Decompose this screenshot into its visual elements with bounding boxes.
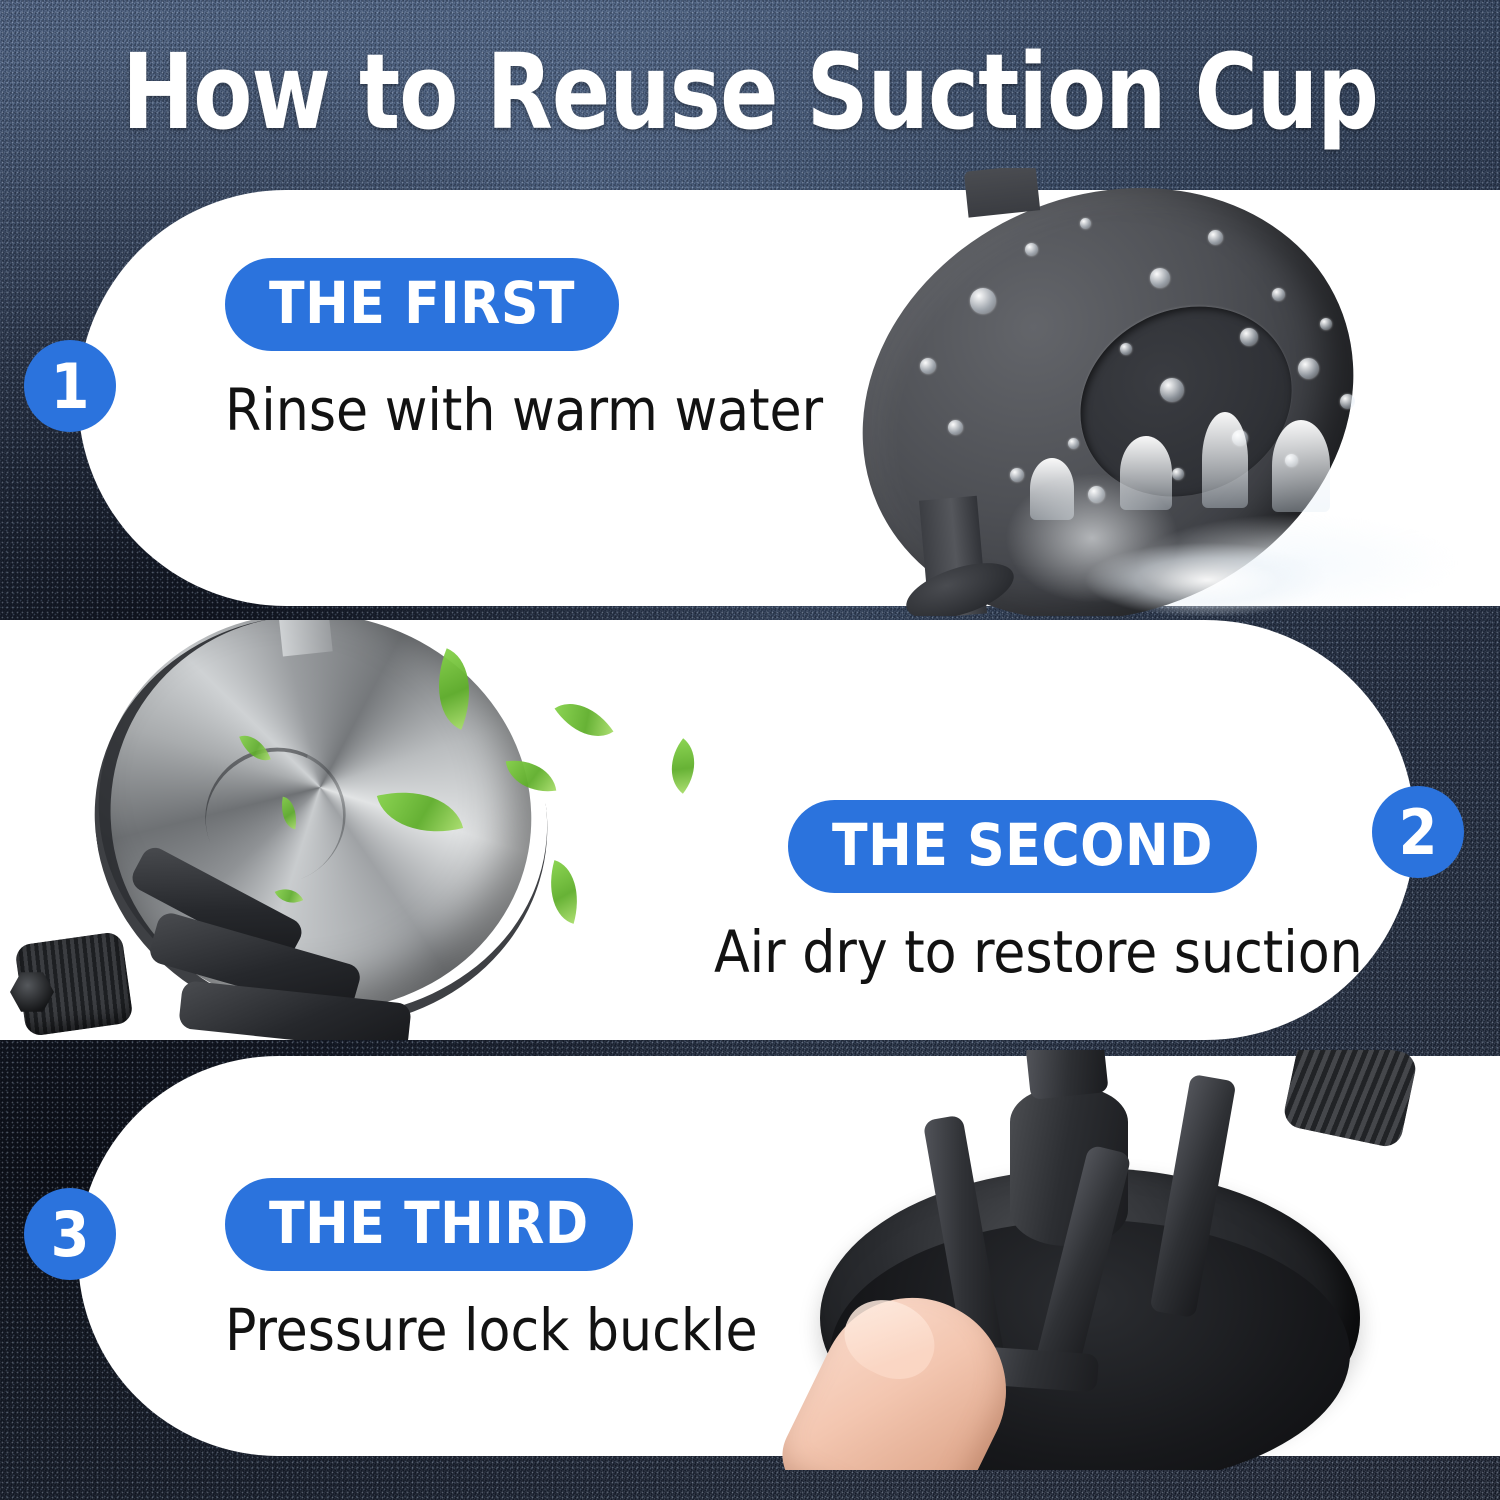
infographic-stage: How to Reuse Suction Cup <box>0 0 1500 1500</box>
step-1-content: THE FIRST Rinse with warm water <box>225 258 865 443</box>
step-2-caption: Air dry to restore suction <box>714 921 1400 985</box>
water-droplet <box>1240 328 1258 346</box>
step-panel-3: THE THIRD Pressure lock buckle <box>0 1050 1500 1470</box>
step-panel-2: THE SECOND Air dry to restore suction <box>0 620 1500 1040</box>
leaf <box>539 860 589 924</box>
step-2-content: THE SECOND Air dry to restore suction <box>700 800 1400 985</box>
water-droplet <box>1272 288 1285 301</box>
step-3-label: THE THIRD <box>225 1178 633 1271</box>
water-droplet <box>1298 358 1319 379</box>
page-title: How to Reuse Suction Cup <box>60 36 1440 148</box>
step-number-badge-1: 1 <box>24 340 116 432</box>
water-droplet <box>1320 318 1332 330</box>
suction-cup-stem <box>277 620 332 656</box>
step-3-photo <box>760 1050 1500 1470</box>
step-number-badge-2: 2 <box>1372 786 1464 878</box>
leaf <box>555 688 614 751</box>
water-droplet <box>1160 378 1184 402</box>
suction-disc-tab <box>964 168 1040 218</box>
water-droplet <box>1120 343 1132 355</box>
leaf <box>656 738 710 794</box>
water-droplet <box>1340 394 1355 409</box>
water-droplet <box>1080 218 1091 229</box>
step-panel-1: THE FIRST Rinse with warm water <box>0 168 1500 616</box>
step-3-caption: Pressure lock buckle <box>225 1299 865 1363</box>
step-number-badge-3: 3 <box>24 1188 116 1280</box>
water-droplet <box>970 288 996 314</box>
step-1-photo <box>820 168 1500 616</box>
step-1-caption: Rinse with warm water <box>225 379 865 443</box>
step-2-photo <box>0 620 760 1040</box>
water-droplet <box>1025 243 1038 256</box>
side-adjustment-knob <box>1281 1050 1418 1149</box>
water-splash <box>836 412 1476 616</box>
water-droplet <box>1150 268 1170 288</box>
step-1-label: THE FIRST <box>225 258 619 351</box>
step-2-label: THE SECOND <box>788 800 1257 893</box>
water-droplet <box>1208 230 1223 245</box>
water-droplet <box>920 358 936 374</box>
support-arm-upper <box>1025 1050 1108 1100</box>
step-3-content: THE THIRD Pressure lock buckle <box>225 1178 865 1363</box>
